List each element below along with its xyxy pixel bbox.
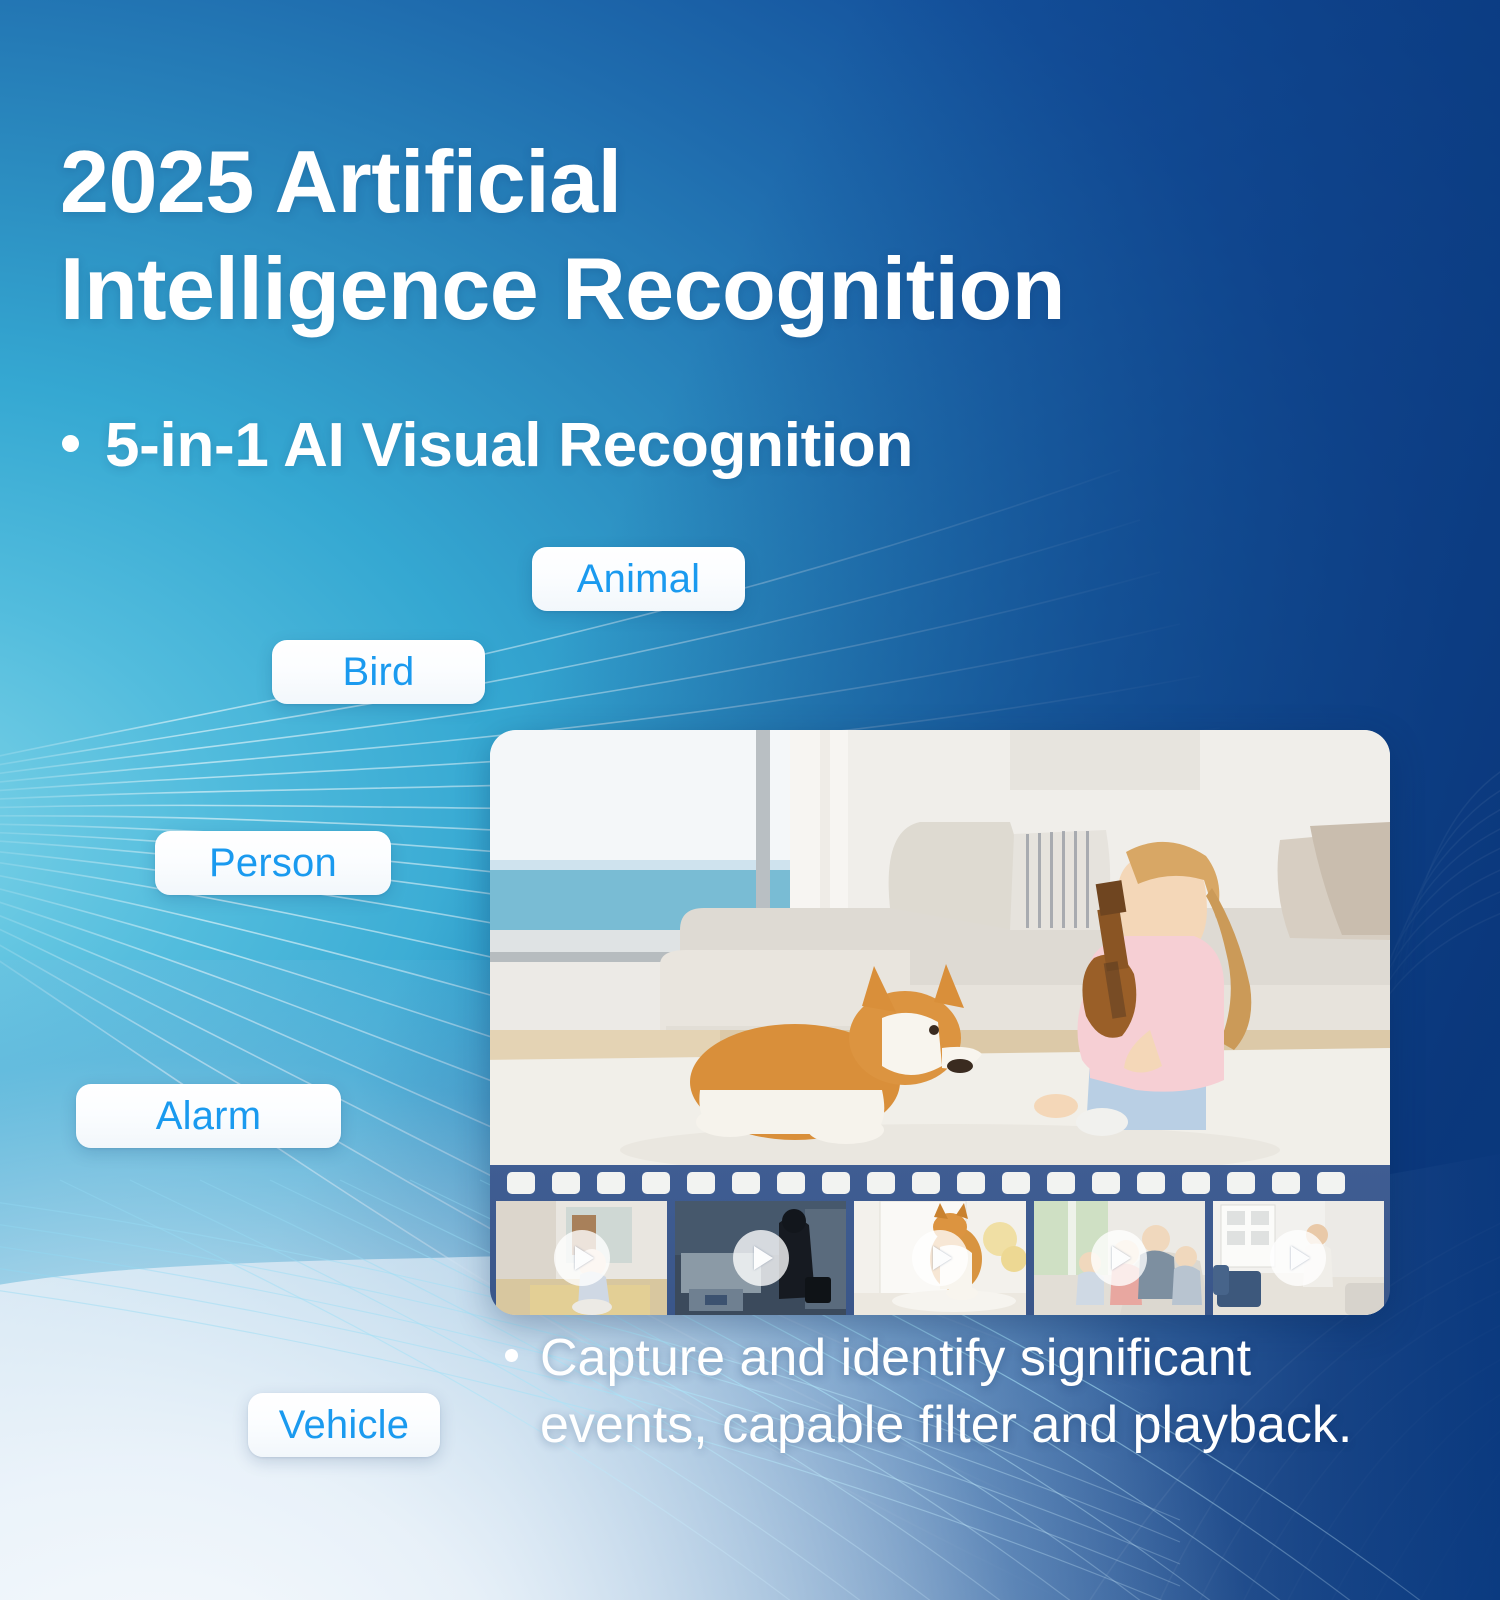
sprocket-hole: [687, 1172, 715, 1194]
bullet-dot-icon: [62, 435, 79, 452]
caption-line-2: events, capable filter and playback.: [540, 1392, 1352, 1459]
thumbnail-item[interactable]: [854, 1201, 1025, 1315]
filmstrip: [490, 1165, 1390, 1315]
sprocket-hole: [822, 1172, 850, 1194]
sprocket-hole: [1137, 1172, 1165, 1194]
headline-line-1: 2025 Artificial: [60, 128, 1300, 235]
media-card: [490, 730, 1390, 1315]
tag-pill-alarm[interactable]: Alarm: [76, 1084, 341, 1148]
main-photo: [490, 730, 1390, 1165]
tag-pill-bird[interactable]: Bird: [272, 640, 485, 704]
thumbnail-item[interactable]: [675, 1201, 846, 1315]
page-title: 2025 Artificial Intelligence Recognition: [60, 128, 1300, 343]
caption-line-1: Capture and identify significant: [540, 1325, 1352, 1392]
sprocket-hole: [777, 1172, 805, 1194]
subheadline-text: 5-in-1 AI Visual Recognition: [105, 410, 913, 481]
subheadline: 5-in-1 AI Visual Recognition: [62, 410, 913, 481]
sprocket-hole: [552, 1172, 580, 1194]
thumbnail-item[interactable]: [1213, 1201, 1384, 1315]
sprocket-hole: [1092, 1172, 1120, 1194]
tag-label: Person: [209, 841, 337, 886]
tag-pill-vehicle[interactable]: Vehicle: [248, 1393, 440, 1457]
sprocket-hole: [1047, 1172, 1075, 1194]
play-icon[interactable]: [733, 1230, 789, 1286]
sprocket-hole: [597, 1172, 625, 1194]
sprocket-hole: [1182, 1172, 1210, 1194]
sprocket-hole: [1317, 1172, 1345, 1194]
play-icon[interactable]: [554, 1230, 610, 1286]
tag-label: Animal: [577, 557, 700, 602]
sprocket-hole: [507, 1172, 535, 1194]
sprocket-hole: [642, 1172, 670, 1194]
play-icon[interactable]: [912, 1230, 968, 1286]
sprocket-hole: [1002, 1172, 1030, 1194]
caption-text: Capture and identify significant events,…: [540, 1325, 1352, 1458]
tag-label: Bird: [343, 650, 415, 695]
filmstrip-sprockets: [490, 1172, 1390, 1194]
tag-label: Vehicle: [279, 1403, 409, 1448]
bullet-dot-icon: [505, 1349, 518, 1362]
sprocket-hole: [732, 1172, 760, 1194]
thumbnail-item[interactable]: [1034, 1201, 1205, 1315]
tag-pill-animal[interactable]: Animal: [532, 547, 745, 611]
sprocket-hole: [1227, 1172, 1255, 1194]
tag-pill-person[interactable]: Person: [155, 831, 391, 895]
promo-banner: 2025 Artificial Intelligence Recognition…: [0, 0, 1500, 1600]
feature-caption: Capture and identify significant events,…: [505, 1325, 1375, 1458]
tag-label: Alarm: [156, 1094, 261, 1139]
play-icon[interactable]: [1270, 1230, 1326, 1286]
sprocket-hole: [867, 1172, 895, 1194]
sprocket-hole: [957, 1172, 985, 1194]
play-icon[interactable]: [1091, 1230, 1147, 1286]
sprocket-hole: [912, 1172, 940, 1194]
thumbnail-item[interactable]: [496, 1201, 667, 1315]
headline-line-2: Intelligence Recognition: [60, 235, 1300, 342]
sprocket-hole: [1272, 1172, 1300, 1194]
filmstrip-thumbnails: [490, 1201, 1390, 1315]
